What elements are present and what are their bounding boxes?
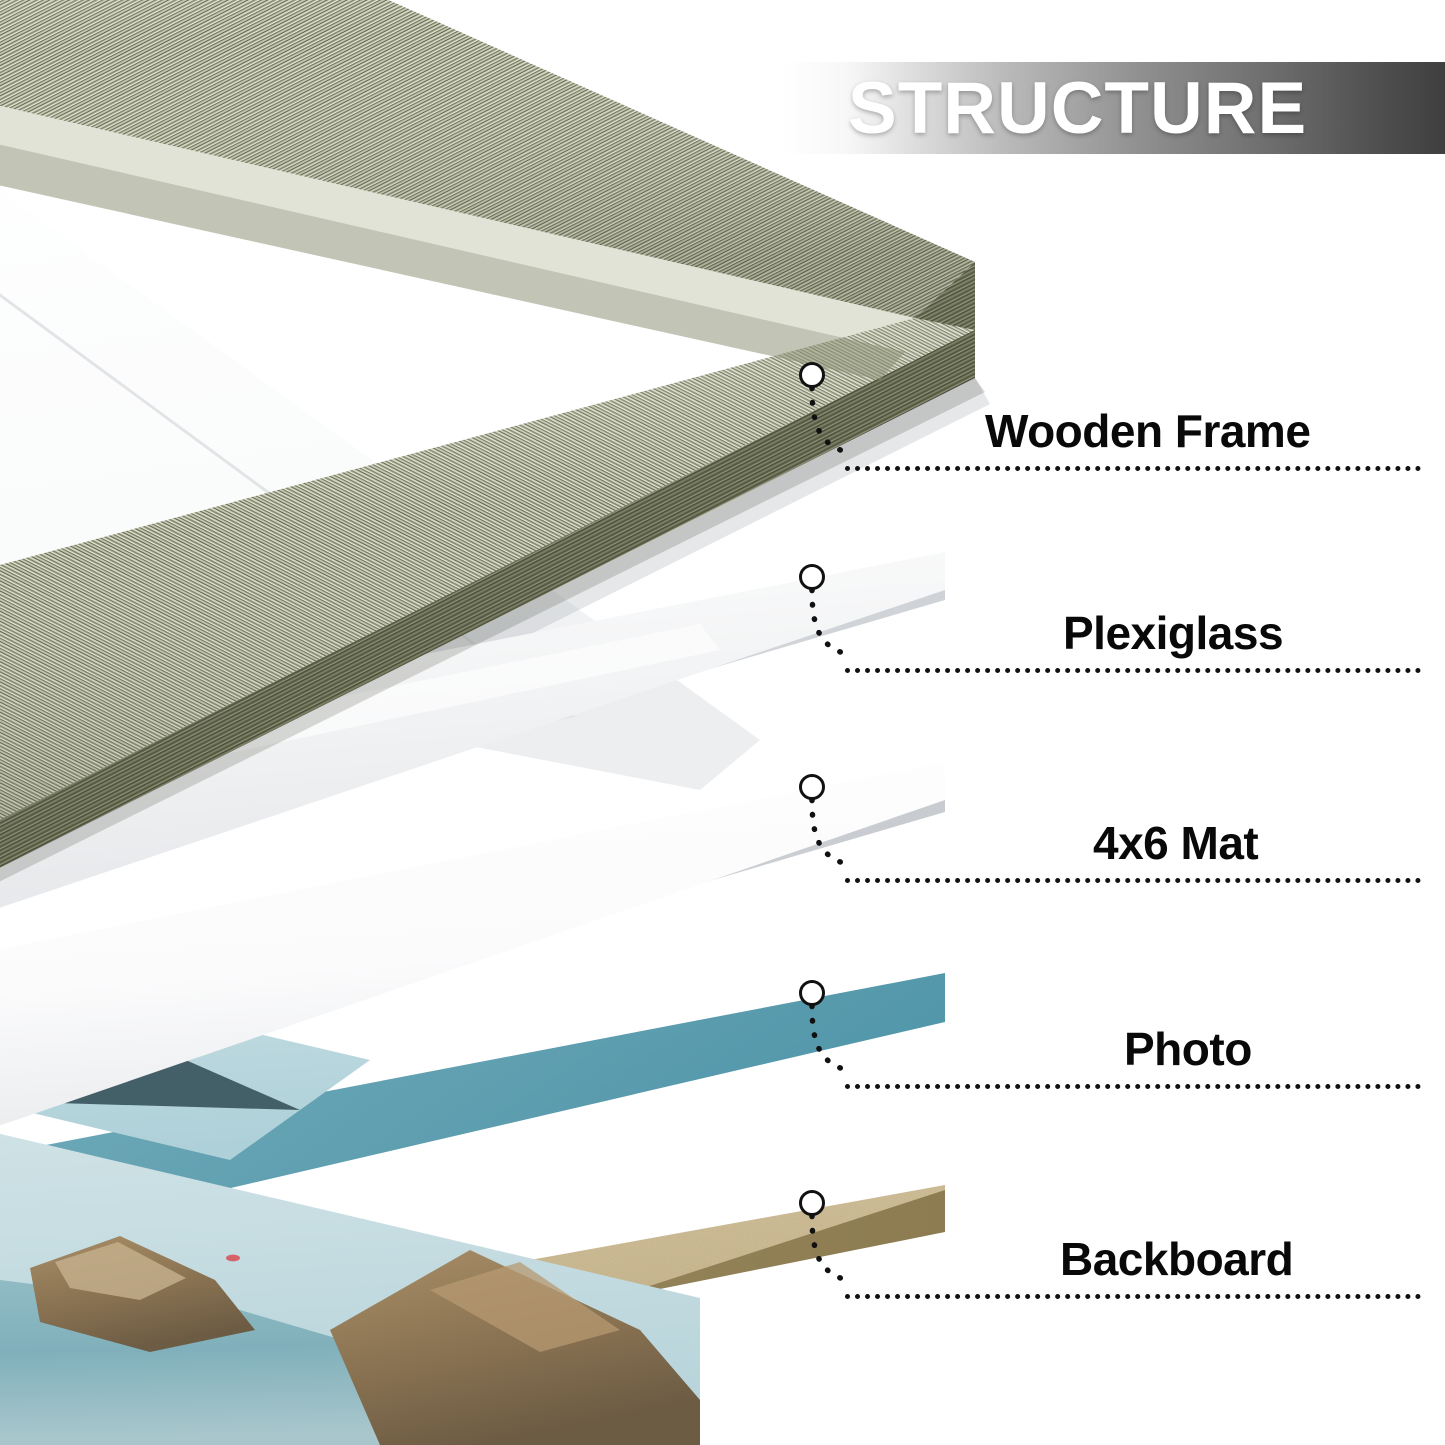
callout-leader-photo <box>790 998 870 1098</box>
wooden-frame-layer <box>0 0 1445 1445</box>
infographic-canvas: STRUCTURE Wooden Frame Plexiglass 4x6 Ma… <box>0 0 1445 1445</box>
callout-leader-backboard <box>790 1208 870 1308</box>
callout-line-wooden-frame <box>845 466 1421 471</box>
callout-line-backboard <box>845 1294 1421 1299</box>
callout-leader-wooden-frame <box>790 380 870 480</box>
callout-label-plexiglass: Plexiglass <box>1063 606 1283 660</box>
callout-marker-photo[interactable] <box>799 980 825 1006</box>
frame-top-rail <box>0 0 975 352</box>
callout-line-photo <box>845 1084 1421 1089</box>
callout-marker-wooden-frame[interactable] <box>799 362 825 388</box>
callout-marker-backboard[interactable] <box>799 1190 825 1216</box>
callout-label-mat: 4x6 Mat <box>1093 816 1258 870</box>
callout-leader-plexiglass <box>790 582 870 682</box>
callout-marker-mat[interactable] <box>799 774 825 800</box>
banner-title: STRUCTURE <box>782 67 1307 150</box>
callout-marker-plexiglass[interactable] <box>799 564 825 590</box>
callout-label-backboard: Backboard <box>1060 1232 1293 1286</box>
callout-label-photo: Photo <box>1124 1022 1252 1076</box>
callout-label-wooden-frame: Wooden Frame <box>985 404 1310 458</box>
structure-banner: STRUCTURE <box>782 62 1445 154</box>
callout-line-plexiglass <box>845 668 1421 673</box>
callout-line-mat <box>845 878 1421 883</box>
callout-leader-mat <box>790 792 870 892</box>
